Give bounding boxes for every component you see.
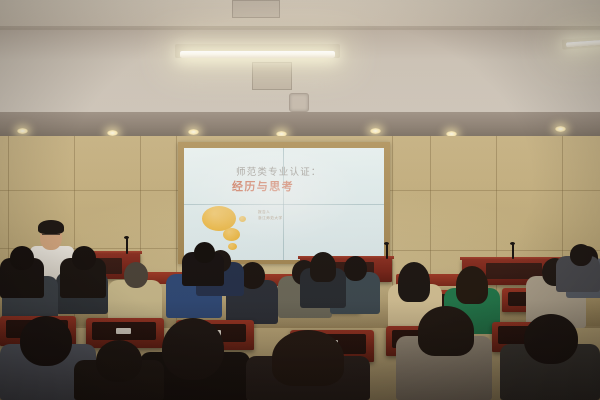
audience-head — [10, 246, 34, 270]
microphone-head — [384, 242, 389, 245]
audience-hair-long — [272, 330, 344, 386]
gooseneck-microphone — [512, 244, 514, 259]
ceiling-vent-lower — [252, 62, 292, 90]
audience-head — [162, 318, 224, 380]
presenter-hair — [38, 220, 64, 234]
audience-head — [344, 256, 367, 281]
wall-panel-seam — [0, 190, 180, 191]
screen-seam-horizontal — [184, 204, 384, 205]
wall-panel-seam — [388, 190, 600, 191]
audience-hair-long — [456, 266, 488, 304]
ceiling-recess-band — [0, 112, 600, 138]
lecture-hall-photo: 师范类专业认证： 经历与思考 报告人 浙江师范大学 — [0, 0, 600, 400]
ceiling-vent-upper — [232, 0, 280, 18]
audience-head — [194, 242, 215, 263]
ceiling-edge-trim — [0, 26, 600, 30]
audience-head — [72, 246, 96, 270]
audience-hair-long — [418, 306, 474, 356]
audience-head — [20, 316, 72, 366]
audience-head — [96, 340, 142, 382]
slide-byline-presenter: 报告人 — [258, 210, 270, 215]
fluorescent-tube-light — [180, 51, 335, 58]
recessed-downlight-3 — [188, 129, 199, 135]
projection-screen: 师范类专业认证： 经历与思考 报告人 浙江师范大学 — [184, 148, 384, 260]
recessed-downlight-5 — [370, 128, 381, 134]
microphone-head — [510, 242, 515, 245]
slide-title-main: 师范类专业认证： — [236, 164, 322, 178]
seat-number-plate — [116, 328, 131, 334]
slide-bubble-small — [228, 243, 237, 250]
microphone-head — [124, 236, 129, 239]
gooseneck-microphone — [126, 238, 128, 254]
audience-head — [524, 314, 578, 364]
recessed-downlight-7 — [555, 126, 566, 132]
slide-bubble-tiny — [239, 216, 246, 222]
ceiling-sensor — [289, 93, 309, 112]
gooseneck-microphone — [386, 244, 388, 259]
presenter-glasses — [42, 234, 60, 235]
slide-bubble-medium — [223, 228, 240, 241]
slide-title-sub: 经历与思考 — [232, 178, 294, 194]
audience-head-cap — [124, 262, 148, 288]
audience-head — [570, 244, 592, 266]
slide-byline-affiliation: 浙江师范大学 — [258, 216, 283, 221]
wall-panel-seam — [388, 250, 600, 251]
audience-hair-long — [310, 252, 336, 282]
audience-hair-long — [398, 262, 430, 302]
recessed-downlight-1 — [17, 128, 28, 134]
